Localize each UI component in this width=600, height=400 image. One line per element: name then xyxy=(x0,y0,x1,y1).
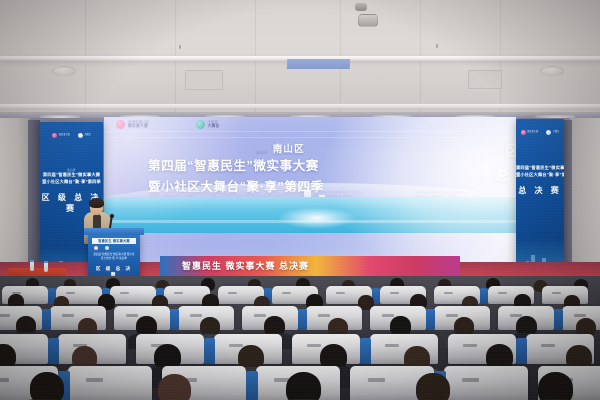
audience-area xyxy=(0,276,600,400)
ceiling-vent xyxy=(468,70,502,89)
ceiling-blue-panel xyxy=(287,59,350,69)
leaf-icon xyxy=(105,246,109,250)
ceiling-vent xyxy=(185,70,223,90)
led-screen: 深圳市南山区 微实事大赛 小社区 大舞台 深圳市 南山区 第四届“智惠民生”微实… xyxy=(104,117,516,267)
banner-right-final: 总 决 赛 xyxy=(516,185,564,196)
ceiling xyxy=(0,0,600,118)
banner-right-line2: 暨小社区大舞台“聚·享”第四季 xyxy=(516,172,564,178)
ceiling-speaker-icon xyxy=(540,66,564,76)
leaf-icon xyxy=(78,133,83,138)
banner-right-logo2: 大舞台 xyxy=(553,131,560,134)
banner-left-logo1: 微实事大赛 xyxy=(59,134,70,137)
banner-right: 微实事大赛 大舞台 第四届“智惠民生”微实事大赛 暨小社区大舞台“聚·享”第四季… xyxy=(516,119,564,279)
podium: 智惠民生 微实事大赛 第四届“智惠民生”微实事大赛 暨小社区大舞台“聚·享”第四… xyxy=(88,232,140,280)
leaf-icon xyxy=(546,130,551,135)
microphone-icon xyxy=(110,214,114,218)
ceiling-speaker-icon xyxy=(52,66,76,76)
flower-icon xyxy=(94,246,98,250)
auditorium-photo: 深圳市南山区 微实事大赛 小社区 大舞台 深圳市 南山区 第四届“智惠民生”微实… xyxy=(0,0,600,400)
banner-left-logo2: 大舞台 xyxy=(84,134,91,137)
stage-front-banner: 智惠民生 微实事大赛 总决赛 xyxy=(160,256,460,278)
water-bottle xyxy=(30,260,34,271)
podium-body-text: 第四届“智惠民生”微实事大赛 暨小社区大舞台“聚·享”第四季 xyxy=(93,253,135,261)
podium-top xyxy=(84,228,144,235)
screen-district: 南山区 xyxy=(273,141,305,155)
banner-left-line1: 第四届“智惠民生”微实事大赛 xyxy=(40,172,103,178)
podium-band-text: 智惠民生 微实事大赛 xyxy=(92,238,136,244)
flower-icon xyxy=(52,133,57,138)
banner-right-line1: 第四届“智惠民生”微实事大赛 xyxy=(516,165,564,171)
ceiling-projector-icon xyxy=(358,14,378,27)
speaker-hair xyxy=(89,198,104,208)
screen-glare xyxy=(326,117,516,267)
water-bottle xyxy=(44,261,48,272)
ceiling-camera-icon xyxy=(355,3,367,11)
flower-icon xyxy=(521,130,526,135)
stage-front-banner-text: 智惠民生 微实事大赛 总决赛 xyxy=(182,259,309,272)
banner-right-logo1: 微实事大赛 xyxy=(527,131,538,134)
banner-left-line2: 暨小社区大舞台“聚·享”第四季 xyxy=(40,179,103,185)
